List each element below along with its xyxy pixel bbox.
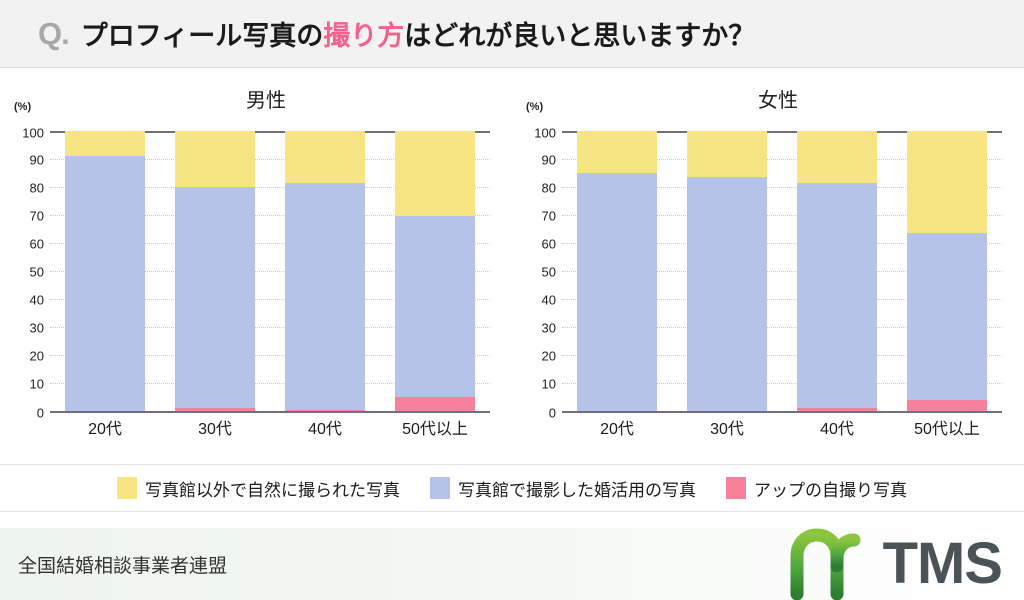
bar-group[interactable] (907, 131, 986, 411)
bar-segment[interactable] (65, 156, 144, 411)
y-tick-label-30: 30 (30, 321, 44, 336)
y-tick-label-60: 60 (542, 237, 556, 252)
bar-group[interactable] (797, 131, 876, 411)
y-tick-label-40: 40 (542, 293, 556, 308)
bar-stack (907, 131, 986, 411)
y-tick-label-80: 80 (30, 181, 44, 196)
chart-legend: 写真館以外で自然に撮られた写真写真館で撮影した婚活用の写真アップの自撮り写真 (0, 464, 1024, 512)
gridline-0: 0 (562, 411, 1002, 413)
x-axis-label: 40代 (797, 415, 876, 439)
brand-logo: TMS (783, 528, 1002, 600)
y-tick-label-40: 40 (30, 293, 44, 308)
y-tick-label-60: 60 (30, 237, 44, 252)
bar-stack (687, 131, 766, 411)
bar-series-group (50, 131, 490, 411)
bar-group[interactable] (65, 131, 144, 411)
y-tick-label-20: 20 (542, 349, 556, 364)
bar-segment[interactable] (797, 131, 876, 183)
title-part-accent: 撮り方 (323, 21, 404, 51)
y-tick-label-100: 100 (22, 126, 44, 141)
y-tick-label-0: 0 (37, 406, 44, 421)
m-logo-icon (783, 528, 879, 600)
bar-series-group (562, 131, 1002, 411)
organization-name: 全国結婚相談事業者連盟 (18, 551, 227, 578)
plot-canvas-male: 0102030405060708090100 (50, 131, 490, 411)
gridline-0: 0 (50, 411, 490, 413)
bar-segment[interactable] (907, 131, 986, 233)
y-axis-unit-male: (%) (14, 101, 31, 113)
bar-segment[interactable] (285, 131, 364, 183)
bar-segment[interactable] (907, 233, 986, 400)
page-footer: 全国結婚相談事業者連盟 TMS (0, 528, 1024, 600)
bar-stack (797, 131, 876, 411)
x-axis-label: 50代以上 (907, 415, 986, 439)
y-tick-label-20: 20 (30, 349, 44, 364)
bar-segment[interactable] (577, 173, 656, 411)
title-part-after: はどれが良いと思いますか？ (404, 21, 755, 51)
bar-segment[interactable] (687, 131, 766, 177)
bar-segment[interactable] (395, 397, 474, 411)
legend-label: 写真館で撮影した婚活用の写真 (458, 476, 696, 501)
bar-segment[interactable] (175, 131, 254, 187)
y-tick-label-50: 50 (30, 265, 44, 280)
x-axis-label: 20代 (65, 415, 144, 439)
question-mark-label: Q. (38, 16, 69, 52)
y-tick-label-70: 70 (542, 209, 556, 224)
y-tick-label-70: 70 (30, 209, 44, 224)
bar-segment[interactable] (65, 131, 144, 156)
bar-segment[interactable] (285, 410, 364, 411)
bar-stack (175, 131, 254, 411)
y-axis-unit-female: (%) (526, 101, 543, 113)
bar-group[interactable] (285, 131, 364, 411)
y-tick-label-0: 0 (549, 406, 556, 421)
y-tick-label-90: 90 (542, 153, 556, 168)
brand-name-label: TMS (883, 535, 1002, 593)
legend-label: アップの自撮り写真 (754, 476, 907, 501)
x-axis-labels-female: 20代30代40代50代以上 (562, 415, 1002, 439)
legend-swatch-icon (726, 477, 746, 499)
y-tick-label-90: 90 (30, 153, 44, 168)
x-axis-label: 30代 (687, 415, 766, 439)
chart-title-male: 男性 (0, 84, 512, 113)
bar-group[interactable] (175, 131, 254, 411)
page-title: プロフィール写真の撮り方はどれが良いと思いますか？ (81, 14, 755, 53)
bar-segment[interactable] (285, 183, 364, 410)
x-axis-labels-male: 20代30代40代50代以上 (50, 415, 490, 439)
bar-segment[interactable] (175, 187, 254, 408)
plot-area-male: (%) 0102030405060708090100 20代30代40代50代以… (50, 117, 490, 417)
y-tick-label-100: 100 (534, 126, 556, 141)
bar-segment[interactable] (797, 408, 876, 411)
legend-item-studio[interactable]: 写真館で撮影した婚活用の写真 (430, 476, 696, 501)
y-tick-label-10: 10 (30, 377, 44, 392)
bar-group[interactable] (687, 131, 766, 411)
y-tick-label-30: 30 (542, 321, 556, 336)
x-axis-label: 20代 (577, 415, 656, 439)
bar-segment[interactable] (687, 177, 766, 411)
x-axis-label: 40代 (285, 415, 364, 439)
legend-item-selfie[interactable]: アップの自撮り写真 (726, 476, 907, 501)
legend-swatch-icon (117, 477, 137, 499)
question-header: Q. プロフィール写真の撮り方はどれが良いと思いますか？ (0, 0, 1024, 68)
x-axis-label: 50代以上 (395, 415, 474, 439)
charts-container: 男性 (%) 0102030405060708090100 20代30代40代5… (0, 68, 1024, 458)
plot-area-female: (%) 0102030405060708090100 20代30代40代50代以… (562, 117, 1002, 417)
legend-swatch-icon (430, 477, 450, 499)
chart-panel-female: 女性 (%) 0102030405060708090100 20代30代40代5… (512, 84, 1024, 458)
legend-label: 写真館以外で自然に撮られた写真 (145, 476, 400, 501)
bar-segment[interactable] (395, 131, 474, 216)
bar-segment[interactable] (797, 183, 876, 408)
y-tick-label-50: 50 (542, 265, 556, 280)
chart-title-female: 女性 (512, 84, 1024, 113)
bar-stack (395, 131, 474, 411)
bar-segment[interactable] (175, 408, 254, 411)
bar-group[interactable] (395, 131, 474, 411)
bar-segment[interactable] (577, 131, 656, 173)
bar-stack (577, 131, 656, 411)
y-tick-label-80: 80 (542, 181, 556, 196)
legend-item-natural[interactable]: 写真館以外で自然に撮られた写真 (117, 476, 400, 501)
chart-panel-male: 男性 (%) 0102030405060708090100 20代30代40代5… (0, 84, 512, 458)
y-tick-label-10: 10 (542, 377, 556, 392)
bar-group[interactable] (577, 131, 656, 411)
bar-stack (285, 131, 364, 411)
x-axis-label: 30代 (175, 415, 254, 439)
bar-segment[interactable] (395, 216, 474, 397)
bar-stack (65, 131, 144, 411)
title-part-before: プロフィール写真の (81, 21, 323, 51)
plot-canvas-female: 0102030405060708090100 (562, 131, 1002, 411)
bar-segment[interactable] (907, 400, 986, 411)
